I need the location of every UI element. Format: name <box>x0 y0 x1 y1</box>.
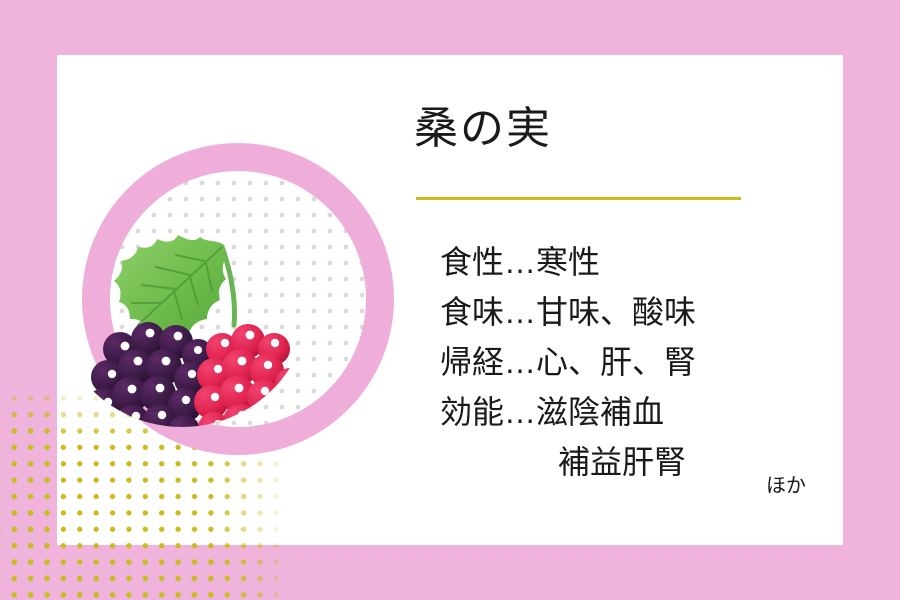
red-mulberry <box>194 324 305 455</box>
mulberry-illustration <box>26 143 338 455</box>
detail-note: ほか <box>766 472 806 500</box>
title-divider <box>416 197 741 200</box>
leaf <box>114 235 227 336</box>
detail-line-kikei: 帰経…心、肝、腎 <box>440 337 840 387</box>
detail-line-shokusei: 食性…寒性 <box>440 237 840 287</box>
detail-list: 食性…寒性 食味…甘味、酸味 帰経…心、肝、腎 効能…滋陰補血 補益肝腎 <box>440 237 840 487</box>
page-title: 桑の実 <box>414 104 552 155</box>
poster-page: 桑の実 食性…寒性 食味…甘味、酸味 帰経…心、肝、腎 効能…滋陰補血 補益肝腎… <box>0 0 900 600</box>
dark-purple-mulberry <box>87 322 214 455</box>
detail-line-shokumi: 食味…甘味、酸味 <box>440 287 840 337</box>
detail-line-kono: 効能…滋陰補血 <box>440 387 840 437</box>
